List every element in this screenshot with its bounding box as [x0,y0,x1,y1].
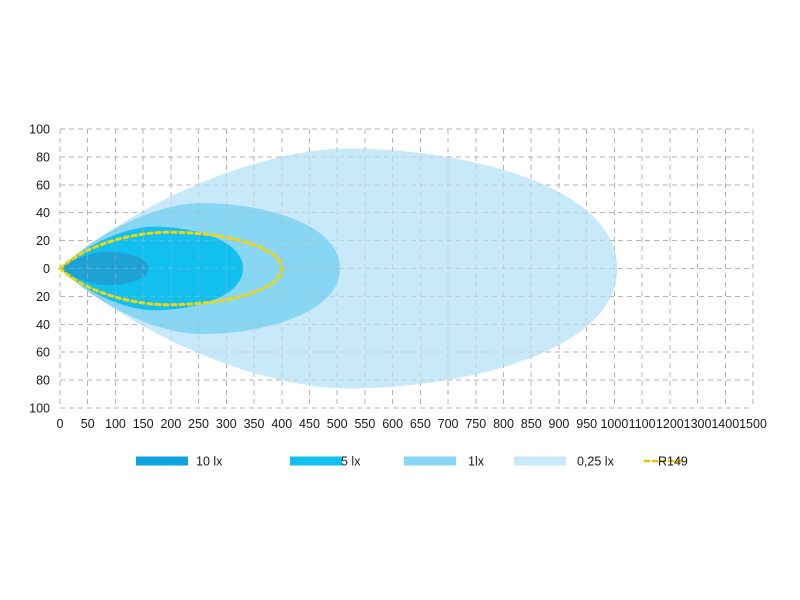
x-axis-tick-label: 950 [576,417,597,431]
y-axis-tick-label: 60 [36,346,50,360]
x-axis-tick-label: 700 [438,417,459,431]
x-axis-tick-label: 1400 [711,417,739,431]
x-axis-tick-label: 200 [160,417,181,431]
x-axis-tick-label: 1100 [629,417,656,431]
x-axis-tick-label: 50 [81,417,95,431]
legend-label: 1lx [468,455,485,469]
y-axis-tick-label: 100 [29,123,50,137]
x-axis-tick-label: 550 [354,417,375,431]
x-axis-tick-label: 650 [410,417,431,431]
x-axis-tick-label: 0 [57,417,64,431]
y-axis-tick-label: 40 [36,206,50,220]
x-axis-tick-label: 500 [327,417,348,431]
legend-swatch [290,457,342,466]
y-axis-tick-label: 0 [43,262,50,276]
x-axis-tick-label: 350 [244,417,265,431]
chart-canvas: 10080604020020406080100 0501001502002503… [0,0,800,600]
x-axis-tick-label: 100 [105,417,126,431]
x-axis-tick-label: 1500 [739,417,767,431]
x-axis-tick-label: 450 [299,417,320,431]
x-axis-tick-label: 800 [493,417,514,431]
x-axis-tick-label: 1300 [684,417,712,431]
y-axis-tick-label: 100 [29,402,50,416]
x-axis-tick-label: 250 [188,417,209,431]
x-axis-tick-label: 600 [382,417,403,431]
y-axis-tick-label: 20 [36,290,50,304]
legend-swatch [404,457,456,466]
y-axis-tick-label: 60 [36,178,50,192]
x-axis-tick-label: 150 [133,417,154,431]
y-axis-tick-label: 20 [36,234,50,248]
legend-label: 0,25 lx [577,455,615,469]
legend-label: R149 [658,455,688,469]
x-axis-tick-label: 750 [465,417,486,431]
x-axis-tick-labels: 0501001502002503003504004505005506006507… [57,417,767,431]
y-axis-tick-label: 80 [36,374,50,388]
legend-swatch [136,457,188,466]
light-distribution-chart: 10080604020020406080100 0501001502002503… [0,0,800,600]
x-axis-tick-label: 400 [271,417,292,431]
x-axis-tick-label: 1000 [600,417,628,431]
legend-label: 10 lx [196,455,223,469]
x-axis-tick-label: 300 [216,417,237,431]
legend-swatch [514,457,566,466]
y-axis-tick-label: 80 [36,150,50,164]
x-axis-tick-label: 1200 [656,417,684,431]
y-axis-tick-label: 40 [36,318,50,332]
x-axis-tick-label: 900 [549,417,570,431]
x-axis-tick-label: 850 [521,417,542,431]
legend-label: 5 lx [341,455,361,469]
